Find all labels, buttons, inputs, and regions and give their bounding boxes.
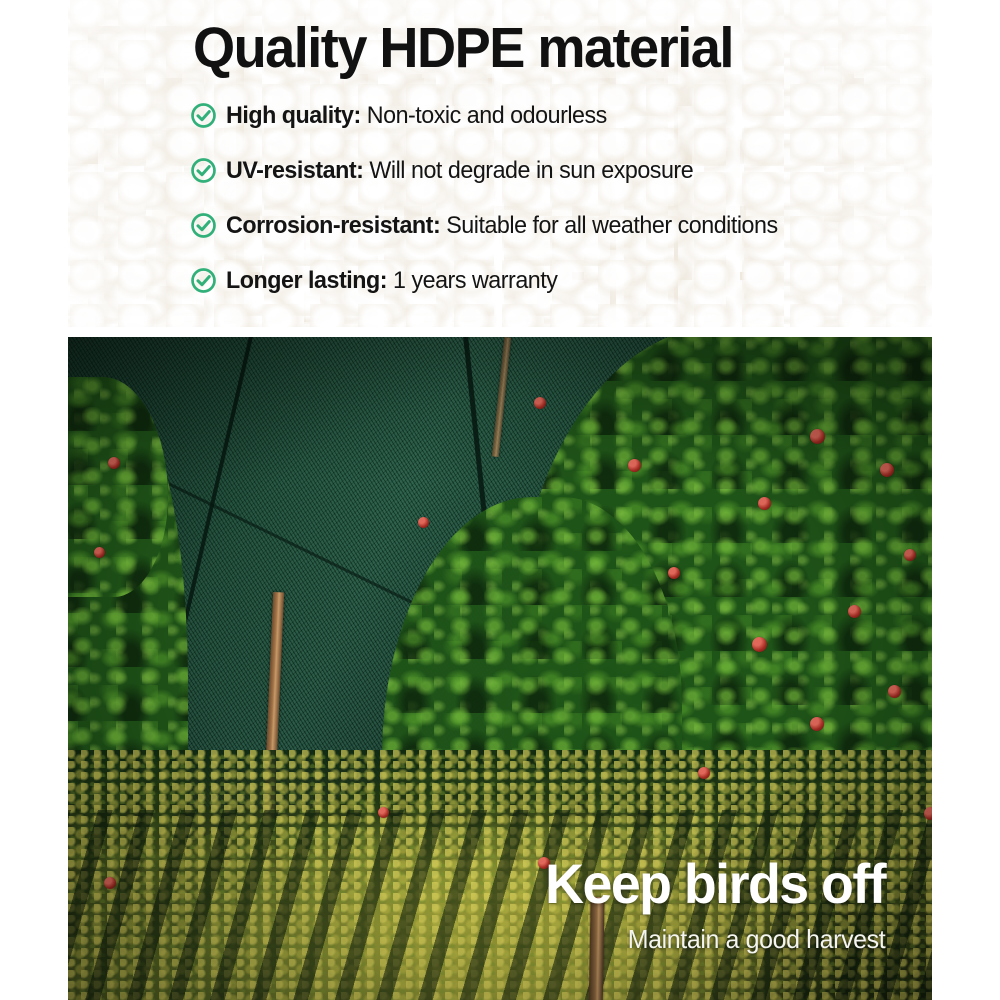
check-circle-icon <box>190 157 217 184</box>
apple-fruit <box>418 517 429 528</box>
feature-list: High quality: Non-toxic and odourless UV… <box>190 88 930 308</box>
apple-fruit <box>810 429 825 444</box>
check-circle-icon <box>190 212 217 239</box>
page-title: Quality HDPE material <box>193 18 733 78</box>
feature-text: Longer lasting: 1 years warranty <box>226 267 557 294</box>
hdpe-material-panel: Quality HDPE material High quality: Non-… <box>68 0 932 327</box>
check-circle-icon <box>190 102 217 129</box>
apple-fruit <box>888 685 901 698</box>
apple-fruit <box>668 567 680 579</box>
apple-fruit <box>698 767 710 779</box>
feature-detail: Will not degrade in sun exposure <box>369 157 693 184</box>
apple-fruit <box>904 549 916 561</box>
product-feature-image: Quality HDPE material High quality: Non-… <box>0 0 1000 1000</box>
list-item: Corrosion-resistant: Suitable for all we… <box>190 198 930 253</box>
list-item: Longer lasting: 1 years warranty <box>190 253 930 308</box>
feature-text: Corrosion-resistant: Suitable for all we… <box>226 212 778 239</box>
apple-fruit <box>880 463 894 477</box>
apple-fruit <box>848 605 861 618</box>
orchard-photo-panel: Keep birds off Maintain a good harvest <box>68 337 932 1000</box>
feature-detail: 1 years warranty <box>393 267 557 294</box>
feature-term: High quality: <box>226 102 361 129</box>
check-circle-icon <box>190 267 217 294</box>
list-item: UV-resistant: Will not degrade in sun ex… <box>190 143 930 198</box>
photo-caption-subtitle: Maintain a good harvest <box>627 925 885 953</box>
photo-caption-title: Keep birds off <box>545 855 885 913</box>
apple-fruit <box>752 637 767 652</box>
feature-term: Corrosion-resistant: <box>226 212 440 239</box>
apple-fruit <box>104 877 116 889</box>
feature-text: High quality: Non-toxic and odourless <box>226 102 607 129</box>
apple-fruit <box>534 397 546 409</box>
feature-term: UV-resistant: <box>226 157 363 184</box>
apple-fruit <box>378 807 389 818</box>
feature-text: UV-resistant: Will not degrade in sun ex… <box>226 157 693 184</box>
apple-fruit <box>628 459 641 472</box>
apple-fruit <box>94 547 105 558</box>
apple-fruit <box>810 717 824 731</box>
list-item: High quality: Non-toxic and odourless <box>190 88 930 143</box>
feature-detail: Non-toxic and odourless <box>367 102 607 129</box>
feature-detail: Suitable for all weather conditions <box>446 212 777 239</box>
feature-term: Longer lasting: <box>226 267 387 294</box>
apple-fruit <box>924 807 932 820</box>
apple-fruit <box>108 457 120 469</box>
apple-fruit <box>758 497 771 510</box>
